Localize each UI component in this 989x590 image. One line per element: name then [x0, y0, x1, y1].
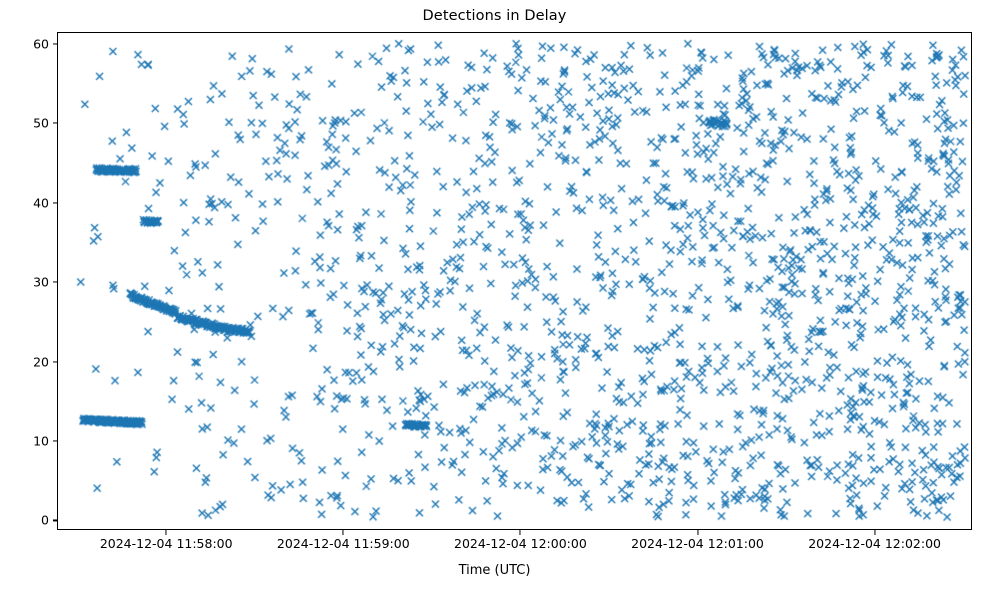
y-tick-label: 50	[0, 116, 49, 131]
y-tick-label: 0	[0, 513, 49, 528]
x-tick-label: 2024-12-04 12:02:00	[808, 536, 941, 551]
x-tick-mark	[343, 530, 344, 535]
chart-title: Detections in Delay	[0, 8, 989, 24]
x-tick-label: 2024-12-04 12:01:00	[631, 536, 764, 551]
y-tick-label: 60	[0, 36, 49, 51]
x-tick-mark	[874, 530, 875, 535]
x-tick-label: 2024-12-04 12:00:00	[454, 536, 587, 551]
x-tick-mark	[697, 530, 698, 535]
x-tick-mark	[166, 530, 167, 535]
matplotlib-figure: Detections in Delay 0102030405060 2024-1…	[0, 0, 989, 590]
x-tick-label: 2024-12-04 11:58:00	[100, 536, 233, 551]
y-tick-label: 30	[0, 275, 49, 290]
y-tick-label: 10	[0, 434, 49, 449]
x-tick-mark	[520, 530, 521, 535]
x-tick-label: 2024-12-04 11:59:00	[277, 536, 410, 551]
y-axis-label: Bistatic Delay (km)	[0, 219, 1, 343]
plot-area	[57, 32, 972, 530]
y-tick-label: 20	[0, 354, 49, 369]
x-axis-label: Time (UTC)	[0, 563, 989, 578]
scatter-canvas	[58, 33, 971, 529]
y-tick-label: 40	[0, 195, 49, 210]
